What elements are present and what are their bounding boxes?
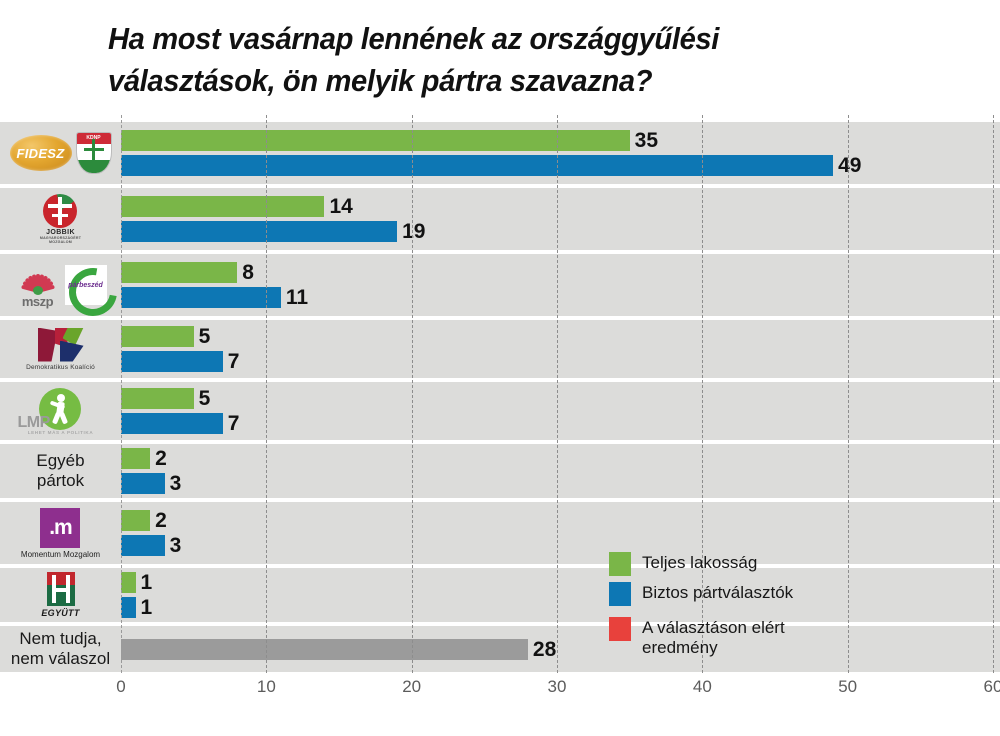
momentum-label: Momentum Mozgalom (21, 550, 100, 559)
bar-green (121, 388, 194, 409)
gridline-50 (848, 115, 849, 673)
row-bars: 3549 (121, 122, 1000, 184)
bar-value-label: 11 (281, 287, 308, 308)
parbeszed-label: párbeszéd (68, 282, 103, 289)
bar-value-label: 7 (223, 351, 240, 372)
parbeszed-arrow-icon: párbeszéd (65, 265, 107, 305)
page-title: Ha most vasárnap lennének az országgyűlé… (108, 18, 822, 102)
bar-value-label: 3 (165, 535, 182, 556)
chart-plot-area: FIDESZ KDNP 3549 JOBBIK MAGYARORSZÁGÉRTM… (0, 115, 1000, 673)
logo-lmp: LMP LEHET MÁS A POLITIKA (28, 388, 94, 435)
row-label-text: Nem tudja, nem válaszol (11, 629, 110, 668)
row-category-label: FIDESZ KDNP (0, 122, 121, 184)
x-axis-tick-40: 40 (693, 677, 712, 697)
logo-fidesz-kdnp: FIDESZ KDNP (10, 132, 112, 174)
bar-green (121, 196, 324, 217)
row-bars: 23 (121, 502, 1000, 564)
chart-row: JOBBIK MAGYARORSZÁGÉRTMOZGALOM 1419 (0, 188, 1000, 250)
logo-dk: Demokratikus Koalíció (26, 328, 95, 371)
legend-label: A választáson elért eredmény (642, 617, 785, 658)
logo-egyutt: EGYÜTT (41, 572, 79, 618)
row-bars: 1419 (121, 188, 1000, 250)
lmp-label: LMP (17, 414, 49, 432)
row-bars: 57 (121, 320, 1000, 378)
bar-value-label: 5 (194, 388, 211, 409)
title-block: Ha most vasárnap lennének az országgyűlé… (0, 0, 1000, 115)
dk-label: Demokratikus Koalíció (26, 364, 95, 371)
row-category-label: .m Momentum Mozgalom (0, 502, 121, 564)
egyutt-label: EGYÜTT (41, 608, 79, 618)
bar-value-label: 35 (630, 130, 658, 151)
kdnp-shield-icon: KDNP (76, 132, 112, 174)
chart-row: EGYÜTT11 (0, 568, 1000, 622)
bar-value-label: 1 (136, 572, 153, 593)
fidesz-oval-icon: FIDESZ (10, 135, 72, 171)
bar-blue (121, 155, 833, 176)
chart-row: mszp párbeszéd 811 (0, 254, 1000, 316)
row-label-text: Egyéb pártok (36, 451, 84, 490)
dk-monogram-icon (38, 328, 84, 362)
logo-mszp-parbeszed: mszp párbeszéd (15, 261, 107, 309)
bar-green (121, 130, 630, 151)
egyutt-e-icon (47, 572, 75, 606)
jobbik-cross-icon (43, 194, 77, 228)
row-category-label: mszp párbeszéd (0, 254, 121, 316)
bar-value-label: 7 (223, 413, 240, 434)
bar-green (121, 326, 194, 347)
momentum-m-icon: .m (40, 508, 80, 548)
row-category-label: Egyéb pártok (0, 444, 121, 498)
legend-item-teljes[interactable]: Teljes lakosság (609, 552, 757, 576)
chart-row: Egyéb pártok23 (0, 444, 1000, 498)
bar-value-label: 28 (528, 639, 556, 660)
bar-blue (121, 413, 223, 434)
row-bars: 811 (121, 254, 1000, 316)
bar-value-label: 2 (150, 510, 167, 531)
legend-label: Teljes lakosság (642, 552, 757, 573)
gridline-30 (557, 115, 558, 673)
mszp-carnation-icon (15, 261, 61, 295)
chart-row: Demokratikus Koalíció57 (0, 320, 1000, 378)
row-category-label: LMP LEHET MÁS A POLITIKA (0, 382, 121, 440)
chart-row: .m Momentum Mozgalom23 (0, 502, 1000, 564)
bar-blue (121, 221, 397, 242)
logo-jobbik: JOBBIK MAGYARORSZÁGÉRTMOZGALOM (40, 194, 81, 245)
fidesz-label: FIDESZ (16, 146, 64, 161)
logo-momentum: .m Momentum Mozgalom (21, 508, 100, 559)
legend-swatch-icon (609, 617, 631, 641)
row-bars: 57 (121, 382, 1000, 440)
bar-value-label: 3 (165, 473, 182, 494)
gridline-20 (412, 115, 413, 673)
jobbik-label: JOBBIK (46, 229, 75, 236)
row-bars: 23 (121, 444, 1000, 498)
bar-blue (121, 597, 136, 618)
row-category-label: Demokratikus Koalíció (0, 320, 121, 378)
x-axis-tick-60: 60 (984, 677, 1000, 697)
bar-green (121, 448, 150, 469)
x-axis-tick-50: 50 (838, 677, 857, 697)
chart-row: FIDESZ KDNP 3549 (0, 122, 1000, 184)
row-category-label: EGYÜTT (0, 568, 121, 622)
chart-row: LMP LEHET MÁS A POLITIKA57 (0, 382, 1000, 440)
row-category-label: Nem tudja, nem válaszol (0, 626, 121, 672)
x-axis-tick-10: 10 (257, 677, 276, 697)
bar-blue (121, 351, 223, 372)
legend-swatch-icon (609, 552, 631, 576)
bar-value-label: 1 (136, 597, 153, 618)
jobbik-sublabel: MAGYARORSZÁGÉRTMOZGALOM (40, 236, 81, 245)
bar-green (121, 572, 136, 593)
bar-value-label: 8 (237, 262, 254, 283)
mszp-label: mszp (22, 294, 53, 309)
gridline-60 (993, 115, 994, 673)
bar-gray (121, 639, 528, 660)
x-axis-tick-20: 20 (402, 677, 421, 697)
bar-value-label: 5 (194, 326, 211, 347)
x-axis-tick-0: 0 (116, 677, 125, 697)
gridline-0 (121, 115, 122, 673)
chart-row: Nem tudja, nem válaszol28 (0, 626, 1000, 672)
bar-blue (121, 535, 165, 556)
bar-green (121, 510, 150, 531)
bar-green (121, 262, 237, 283)
legend-item-biztos[interactable]: Biztos pártválasztók (609, 582, 793, 606)
row-bars: 28 (121, 626, 1000, 672)
legend-item-valasztas[interactable]: A választáson elért eredmény (609, 617, 785, 658)
bar-value-label: 14 (324, 196, 352, 217)
legend-swatch-icon (609, 582, 631, 606)
bar-blue (121, 473, 165, 494)
bar-value-label: 2 (150, 448, 167, 469)
row-category-label: JOBBIK MAGYARORSZÁGÉRTMOZGALOM (0, 188, 121, 250)
legend-label: Biztos pártválasztók (642, 582, 793, 603)
bar-blue (121, 287, 281, 308)
x-axis: 0102030405060 (0, 673, 1000, 713)
row-bars: 11 (121, 568, 1000, 622)
gridline-10 (266, 115, 267, 673)
x-axis-tick-30: 30 (548, 677, 567, 697)
